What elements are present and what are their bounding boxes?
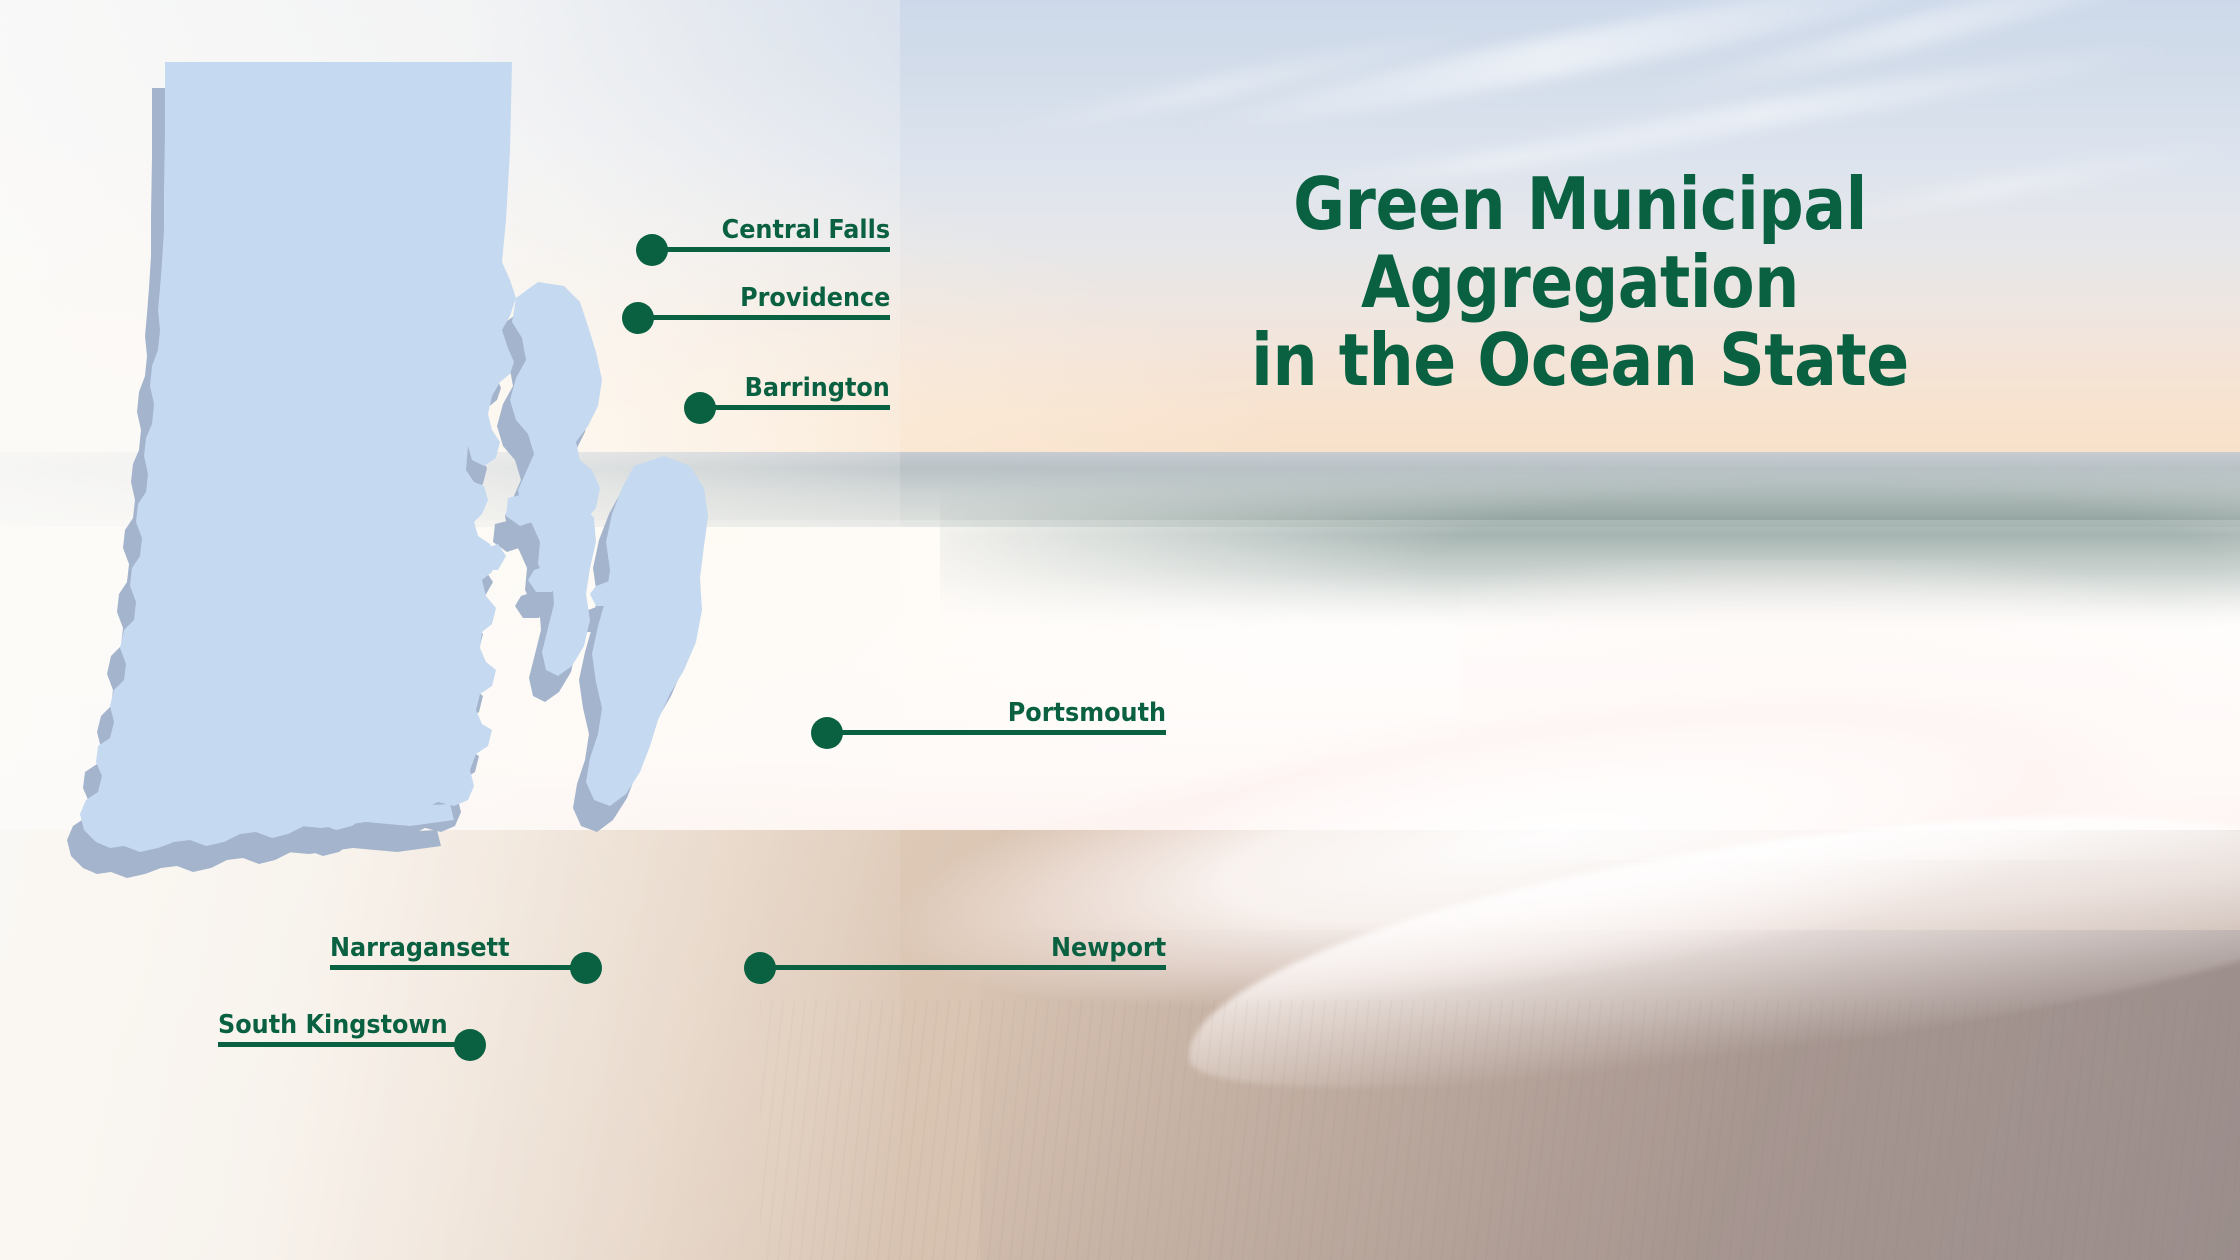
callout-leader-line-south-kingstown bbox=[218, 1042, 470, 1047]
callout-label-providence: Providence bbox=[740, 283, 890, 313]
rhode-island-map bbox=[40, 30, 740, 870]
callout-leader-line-central-falls bbox=[652, 247, 890, 252]
callout-leader-line-newport bbox=[760, 965, 1166, 970]
callout-south-kingstown[interactable]: South Kingstown bbox=[218, 992, 470, 1054]
map-pin-icon-barrington[interactable] bbox=[684, 392, 716, 424]
map-pin-icon-newport[interactable] bbox=[744, 952, 776, 984]
map-land-layer bbox=[80, 62, 708, 852]
callout-label-central-falls: Central Falls bbox=[722, 215, 890, 245]
callout-label-portsmouth: Portsmouth bbox=[1008, 698, 1166, 728]
callout-providence[interactable]: Providence bbox=[638, 265, 890, 327]
callout-leader-line-portsmouth bbox=[827, 730, 1166, 735]
map-pin-icon-providence[interactable] bbox=[622, 302, 654, 334]
callout-leader-line-barrington bbox=[700, 405, 890, 410]
callout-narragansett[interactable]: Narragansett bbox=[330, 915, 586, 977]
poster-canvas: Green Municipal Aggregation in the Ocean… bbox=[0, 0, 2240, 1260]
callout-newport[interactable]: Newport bbox=[760, 915, 1166, 977]
map-pin-icon-portsmouth[interactable] bbox=[811, 717, 843, 749]
callout-leader-line-narragansett bbox=[330, 965, 586, 970]
callout-central-falls[interactable]: Central Falls bbox=[652, 197, 890, 259]
callout-leader-line-providence bbox=[638, 315, 890, 320]
page-title: Green Municipal Aggregation in the Ocean… bbox=[1070, 166, 2091, 399]
callout-label-narragansett: Narragansett bbox=[330, 933, 510, 963]
map-pin-icon-south-kingstown[interactable] bbox=[454, 1029, 486, 1061]
callout-label-barrington: Barrington bbox=[745, 373, 890, 403]
map-pin-icon-narragansett[interactable] bbox=[570, 952, 602, 984]
map-pin-icon-central-falls[interactable] bbox=[636, 234, 668, 266]
callout-barrington[interactable]: Barrington bbox=[700, 355, 890, 417]
callout-portsmouth[interactable]: Portsmouth bbox=[827, 680, 1166, 742]
sand-ripple-texture bbox=[760, 1000, 2240, 1260]
callout-label-south-kingstown: South Kingstown bbox=[218, 1010, 448, 1040]
callout-label-newport: Newport bbox=[1051, 933, 1166, 963]
